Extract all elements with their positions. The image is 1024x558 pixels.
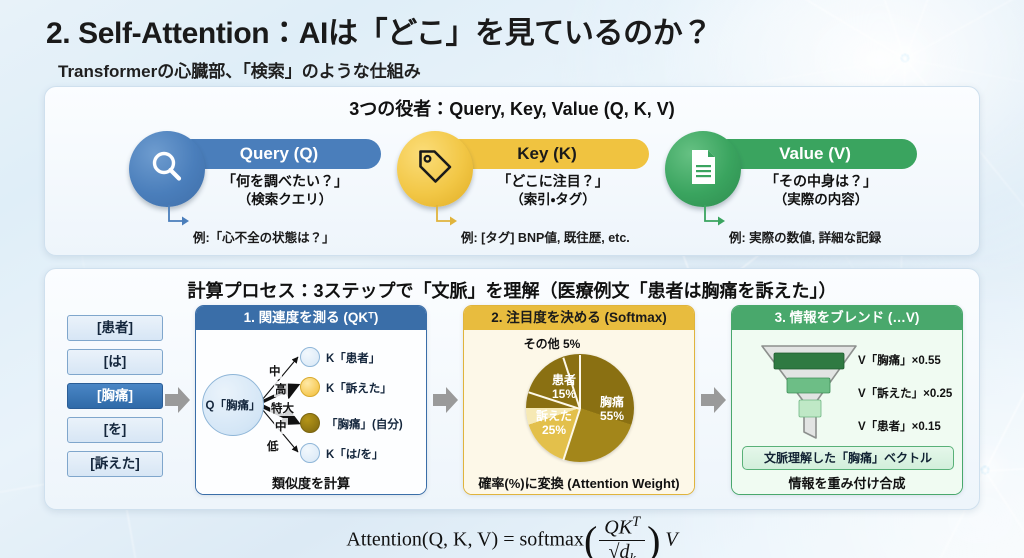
- pie-value-complained: 25%: [526, 424, 582, 438]
- pie-value-patient: 15%: [544, 388, 584, 402]
- flow-arrow-icon: [701, 385, 727, 415]
- slide-header: 2. Self-Attention：AIは「どこ」を見ているのか？ Transf…: [46, 8, 712, 82]
- key-pill-label: Key (K): [445, 139, 649, 169]
- calc-panel-heading: 計算プロセス：3ステップで「文脈」を理解（医療例文「患者は胸痛を訴えた」）: [45, 277, 979, 303]
- key-node-patient-label: K「患者」: [326, 350, 380, 366]
- light-star: [900, 53, 910, 63]
- step-3-footer: 情報を重み付け合成: [732, 473, 962, 492]
- context-vector-output: 文脈理解した「胸痛」ベクトル: [742, 446, 954, 470]
- token-item[interactable]: [患者]: [67, 315, 163, 341]
- key-elbow-connector: [434, 205, 460, 231]
- formula-lhs: Attention(Q, K, V) =: [346, 528, 514, 550]
- qkv-panel: 3つの役者：Query, Key, Value (Q, K, V) Query …: [44, 86, 980, 256]
- value-weight-list: V「胸痛」×0.55 V「訴えた」×0.25 V「患者」×0.15: [858, 352, 952, 451]
- key-node-patient: [300, 347, 320, 367]
- query-desc-line1: 「何を調べたい？」: [185, 173, 385, 191]
- qkv-card-query[interactable]: Query (Q) 「何を調べたい？」 （検索クエリ） 例:: [129, 131, 381, 251]
- query-description: 「何を調べたい？」 （検索クエリ）: [185, 173, 385, 208]
- key-node-complained-label: K「訴えた」: [326, 380, 392, 396]
- page-title: 2. Self-Attention：AIは「どこ」を見ているのか？: [46, 8, 712, 52]
- calculation-panel: 計算プロセス：3ステップで「文脈」を理解（医療例文「患者は胸痛を訴えた」） [患…: [44, 268, 980, 510]
- pie-label-complained: 訴えた 25%: [526, 410, 582, 438]
- token-item[interactable]: [を]: [67, 417, 163, 443]
- formula-denominator: √dk: [599, 540, 645, 558]
- qkv-card-value[interactable]: Value (V) 「その中身は？」 （実際の内容）: [665, 131, 917, 251]
- step-1-footer: 類似度を計算: [196, 473, 426, 492]
- pie-label-patient: 患者 15%: [544, 374, 584, 402]
- flow-arrow-icon: [433, 385, 459, 415]
- formula-close-paren: ): [647, 517, 660, 558]
- value-example: 例: 実際の数値, 詳細な記録: [729, 227, 881, 246]
- pie-label-other: その他 5%: [492, 338, 612, 352]
- step-3-card[interactable]: 3. 情報をブレンド (…V) V「胸痛」×0.55 V「訴えた」×0.25 V…: [731, 305, 963, 495]
- query-desc-line2: （検索クエリ）: [185, 191, 385, 208]
- key-node-particles: [300, 443, 320, 463]
- formula-fraction: QKT√dk: [599, 514, 645, 558]
- edge-weight-label: 低: [266, 438, 280, 454]
- formula-trailing: V: [665, 528, 677, 550]
- funnel-icon: [754, 340, 864, 448]
- query-pill-label: Query (Q): [177, 139, 381, 169]
- value-pill-label: Value (V): [713, 139, 917, 169]
- step-3-body: V「胸痛」×0.55 V「訴えた」×0.25 V「患者」×0.15 文脈理解した…: [732, 330, 962, 495]
- token-list: [患者] [は] [胸痛] [を] [訴えた]: [67, 315, 163, 485]
- key-example: 例: [タグ] BNP値, 既往歴, etc.: [461, 227, 630, 246]
- light-ray: [904, 0, 1024, 59]
- key-description: 「どこに注目？」 （索引・タグ）: [453, 173, 653, 208]
- key-node-self-label: 「胸痛」(自分): [326, 416, 403, 432]
- value-weight-row: V「訴えた」×0.25: [858, 385, 952, 401]
- token-item-active[interactable]: [胸痛]: [67, 383, 163, 409]
- flow-arrow-icon: [165, 385, 191, 415]
- value-weight-row: V「胸痛」×0.55: [858, 352, 952, 368]
- step-2-title: 2. 注目度を決める (Softmax): [464, 306, 694, 330]
- edge-weight-label: 高: [274, 381, 288, 397]
- step-2-body: その他 5% 患者 15% 訴えた 25% 胸痛 55% 確率(%)に変換 (A…: [464, 330, 694, 495]
- query-example: 例:「心不全の状態は？」: [193, 227, 335, 246]
- light-ray: [985, 457, 1024, 472]
- magnifier-icon: [147, 147, 187, 192]
- light-star: [980, 465, 990, 475]
- edge-weight-label: 中: [268, 363, 282, 379]
- light-ray: [825, 0, 906, 59]
- value-description: 「その中身は？」 （実際の内容）: [721, 173, 921, 208]
- step-3-title: 3. 情報をブレンド (…V): [732, 306, 962, 330]
- document-icon: [683, 146, 723, 193]
- qkv-card-row: Query (Q) 「何を調べたい？」 （検索クエリ） 例:: [45, 131, 979, 251]
- pie-value-other: 5%: [563, 337, 580, 351]
- edge-weight-label: 中: [274, 418, 288, 434]
- token-item[interactable]: [は]: [67, 349, 163, 375]
- value-weight-row: V「患者」×0.15: [858, 418, 952, 434]
- key-node-complained: [300, 377, 320, 397]
- qkv-panel-heading: 3つの役者：Query, Key, Value (Q, K, V): [45, 95, 979, 121]
- key-node-self: [300, 413, 320, 433]
- edge-weight-label: 特大: [270, 400, 295, 416]
- query-node: Q「胸痛」: [202, 374, 264, 436]
- value-desc-line2: （実際の内容）: [721, 191, 921, 208]
- query-elbow-connector: [166, 205, 192, 231]
- light-ray: [905, 0, 1024, 60]
- page-subtitle: Transformerの心臓部、「検索」のような仕組み: [58, 57, 712, 82]
- qkv-card-key[interactable]: Key (K) 「どこに注目？」 （索引・タグ） 例: [タ: [397, 131, 649, 251]
- step-1-card[interactable]: 1. 関連度を測る (QKᵀ) Q「胸痛」 K「患者」: [195, 305, 427, 495]
- formula-numerator: QKT: [599, 514, 645, 540]
- formula-fn: softmax: [520, 528, 584, 550]
- key-desc-line2: （索引・タグ）: [453, 191, 653, 208]
- step-1-body: Q「胸痛」 K「患者」 K「訴えた」 「胸痛」(自分) K「は/を」 中 高 特…: [196, 330, 426, 495]
- value-elbow-connector: [702, 205, 728, 231]
- light-ray: [984, 102, 1024, 472]
- value-desc-line1: 「その中身は？」: [721, 173, 921, 191]
- pie-label-chestpain: 胸痛 55%: [590, 396, 634, 424]
- pie-value-chestpain: 55%: [590, 410, 634, 424]
- token-item[interactable]: [訴えた]: [67, 451, 163, 477]
- step-1-title: 1. 関連度を測る (QKᵀ): [196, 306, 426, 330]
- key-desc-line1: 「どこに注目？」: [453, 173, 653, 191]
- step-2-card[interactable]: 2. 注目度を決める (Softmax) その他 5% 患者 15% 訴えた 2…: [463, 305, 695, 495]
- attention-formula: Attention(Q, K, V) = softmax(QKT√dk) V: [0, 514, 1024, 558]
- formula-open-paren: (: [584, 517, 597, 558]
- tag-icon: [414, 146, 456, 193]
- key-node-particles-label: K「は/を」: [326, 446, 384, 462]
- step-2-footer: 確率(%)に変換 (Attention Weight): [464, 473, 694, 492]
